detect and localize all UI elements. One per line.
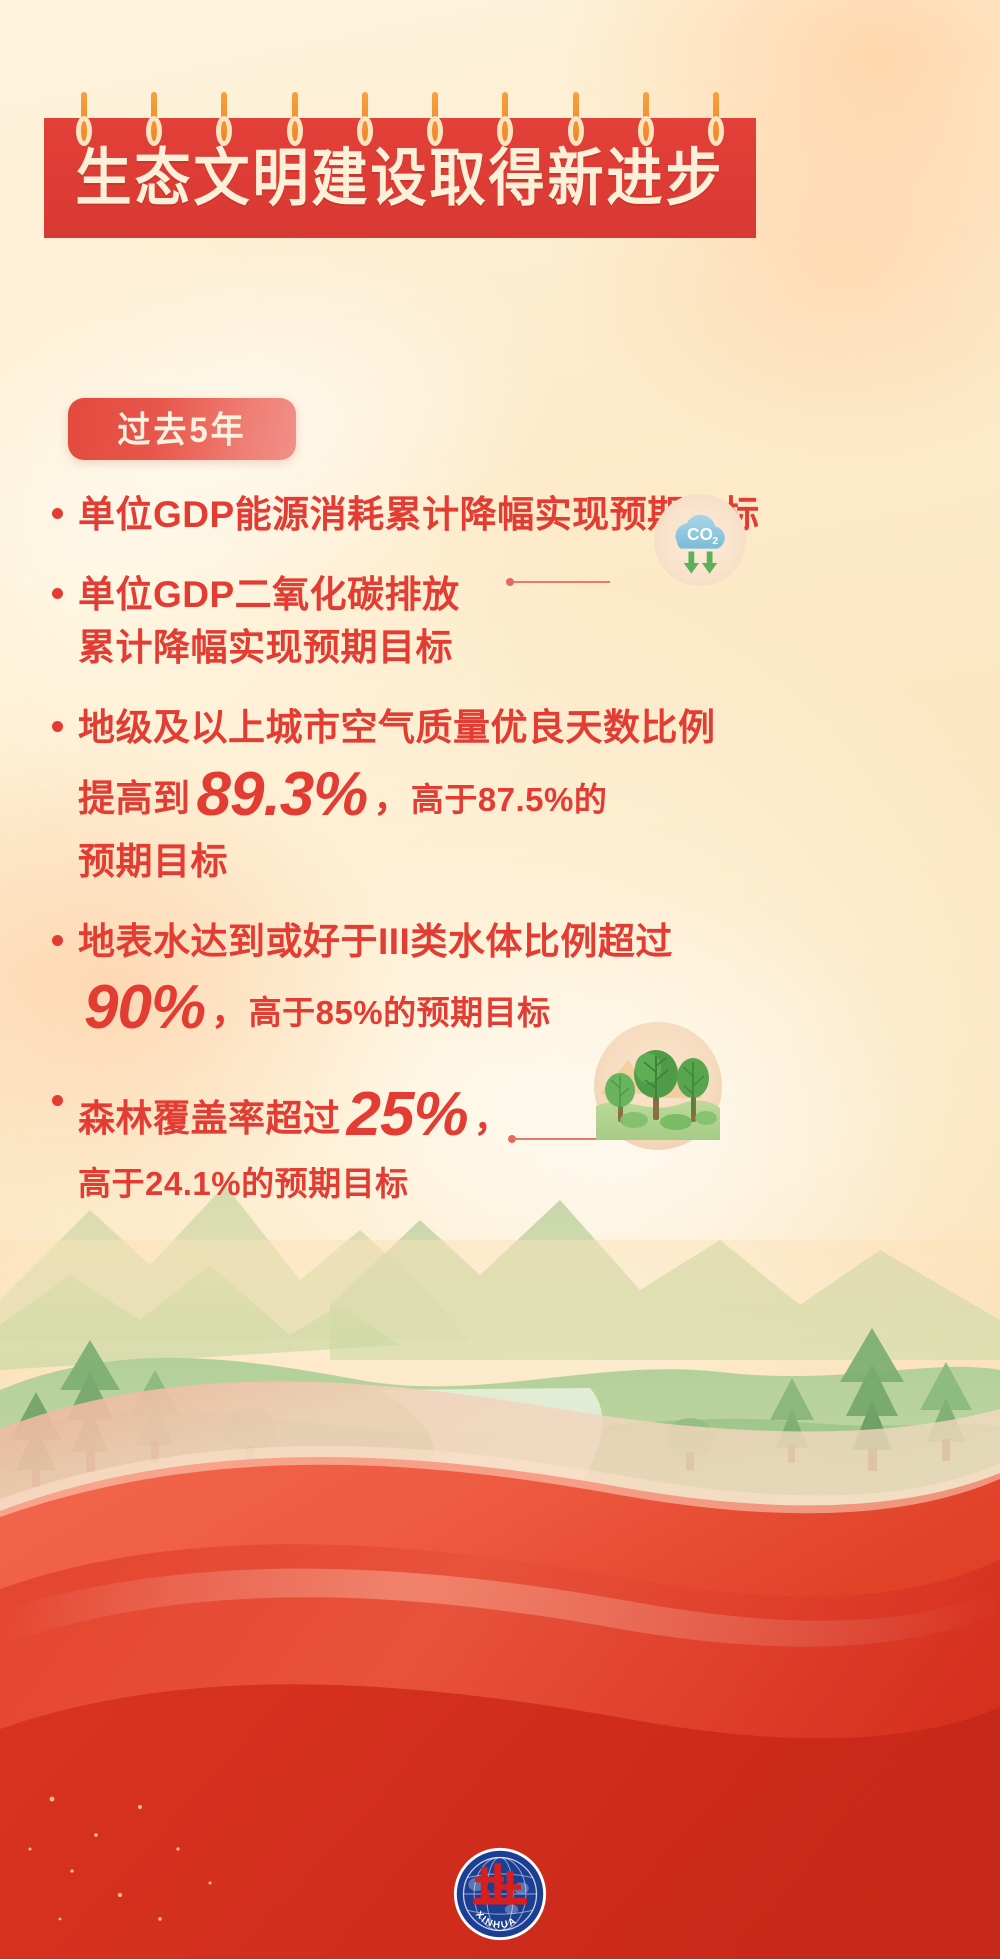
page-title: 生态文明建设取得新进步 [76,147,725,210]
list-item-text: 地级及以上城市空气质量优良天数比例 [78,707,716,748]
xinhua-news-agency-logo: XINHUA [452,1846,548,1942]
title-banner: 生态文明建设取得新进步 [44,118,756,238]
bullet-dot-icon [52,721,63,732]
period-badge-label: 过去5年 [117,411,246,447]
metric-note: 高于85%的预期目标 [249,994,551,1031]
forest-trees-icon [588,1020,728,1152]
metric-note: 高于24.1%的预期目标 [78,1165,409,1202]
infographic-poster: 生态文明建设取得新进步 过去5年 单位GDP能源消耗累计降幅实现预期目标单位GD… [0,0,1000,1959]
list-item-line: 地级及以上城市空气质量优良天数比例 [78,701,804,755]
list-item-line: 地表水达到或好于III类水体比例超过 [78,915,804,969]
bullet-dot-icon [52,588,63,599]
bullet-dot-icon [52,508,63,519]
list-item-text: 单位GDP二氧化碳排放 [78,574,460,615]
list-item: 地级及以上城市空气质量优良天数比例提高到89.3%，高于87.5%的预期目标 [44,701,804,889]
bullet-dot-icon [52,935,63,946]
list-item-text: 预期目标 [78,841,228,882]
svg-text:2: 2 [712,535,718,547]
list-item-line: 累计降幅实现预期目标 [78,621,804,675]
list-item-text: 地表水达到或好于III类水体比例超过 [78,921,673,962]
period-badge: 过去5年 [68,398,296,460]
list-item-line: 预期目标 [78,835,804,889]
list-item-text: ， [211,991,249,1032]
svg-text:CO: CO [687,524,713,544]
list-item-line: 高于24.1%的预期目标 [78,1156,804,1210]
list-item-text: 森林覆盖率超过 [78,1098,341,1139]
list-item-line: 提高到89.3%，高于87.5%的 [78,755,804,836]
metric-value: 90% [78,973,211,1042]
bullet-dot-icon [52,1095,63,1106]
co2-cloud-icon: CO 2 [652,492,748,588]
list-item-text: 提高到 [78,778,191,819]
list-item-text: ， [474,1098,512,1139]
list-item-text: ， [373,778,411,819]
metric-value: 25% [341,1080,474,1149]
list-item-text: 累计降幅实现预期目标 [78,627,453,668]
metric-note: 高于87.5%的 [411,781,608,818]
metric-value: 89.3% [191,760,374,829]
